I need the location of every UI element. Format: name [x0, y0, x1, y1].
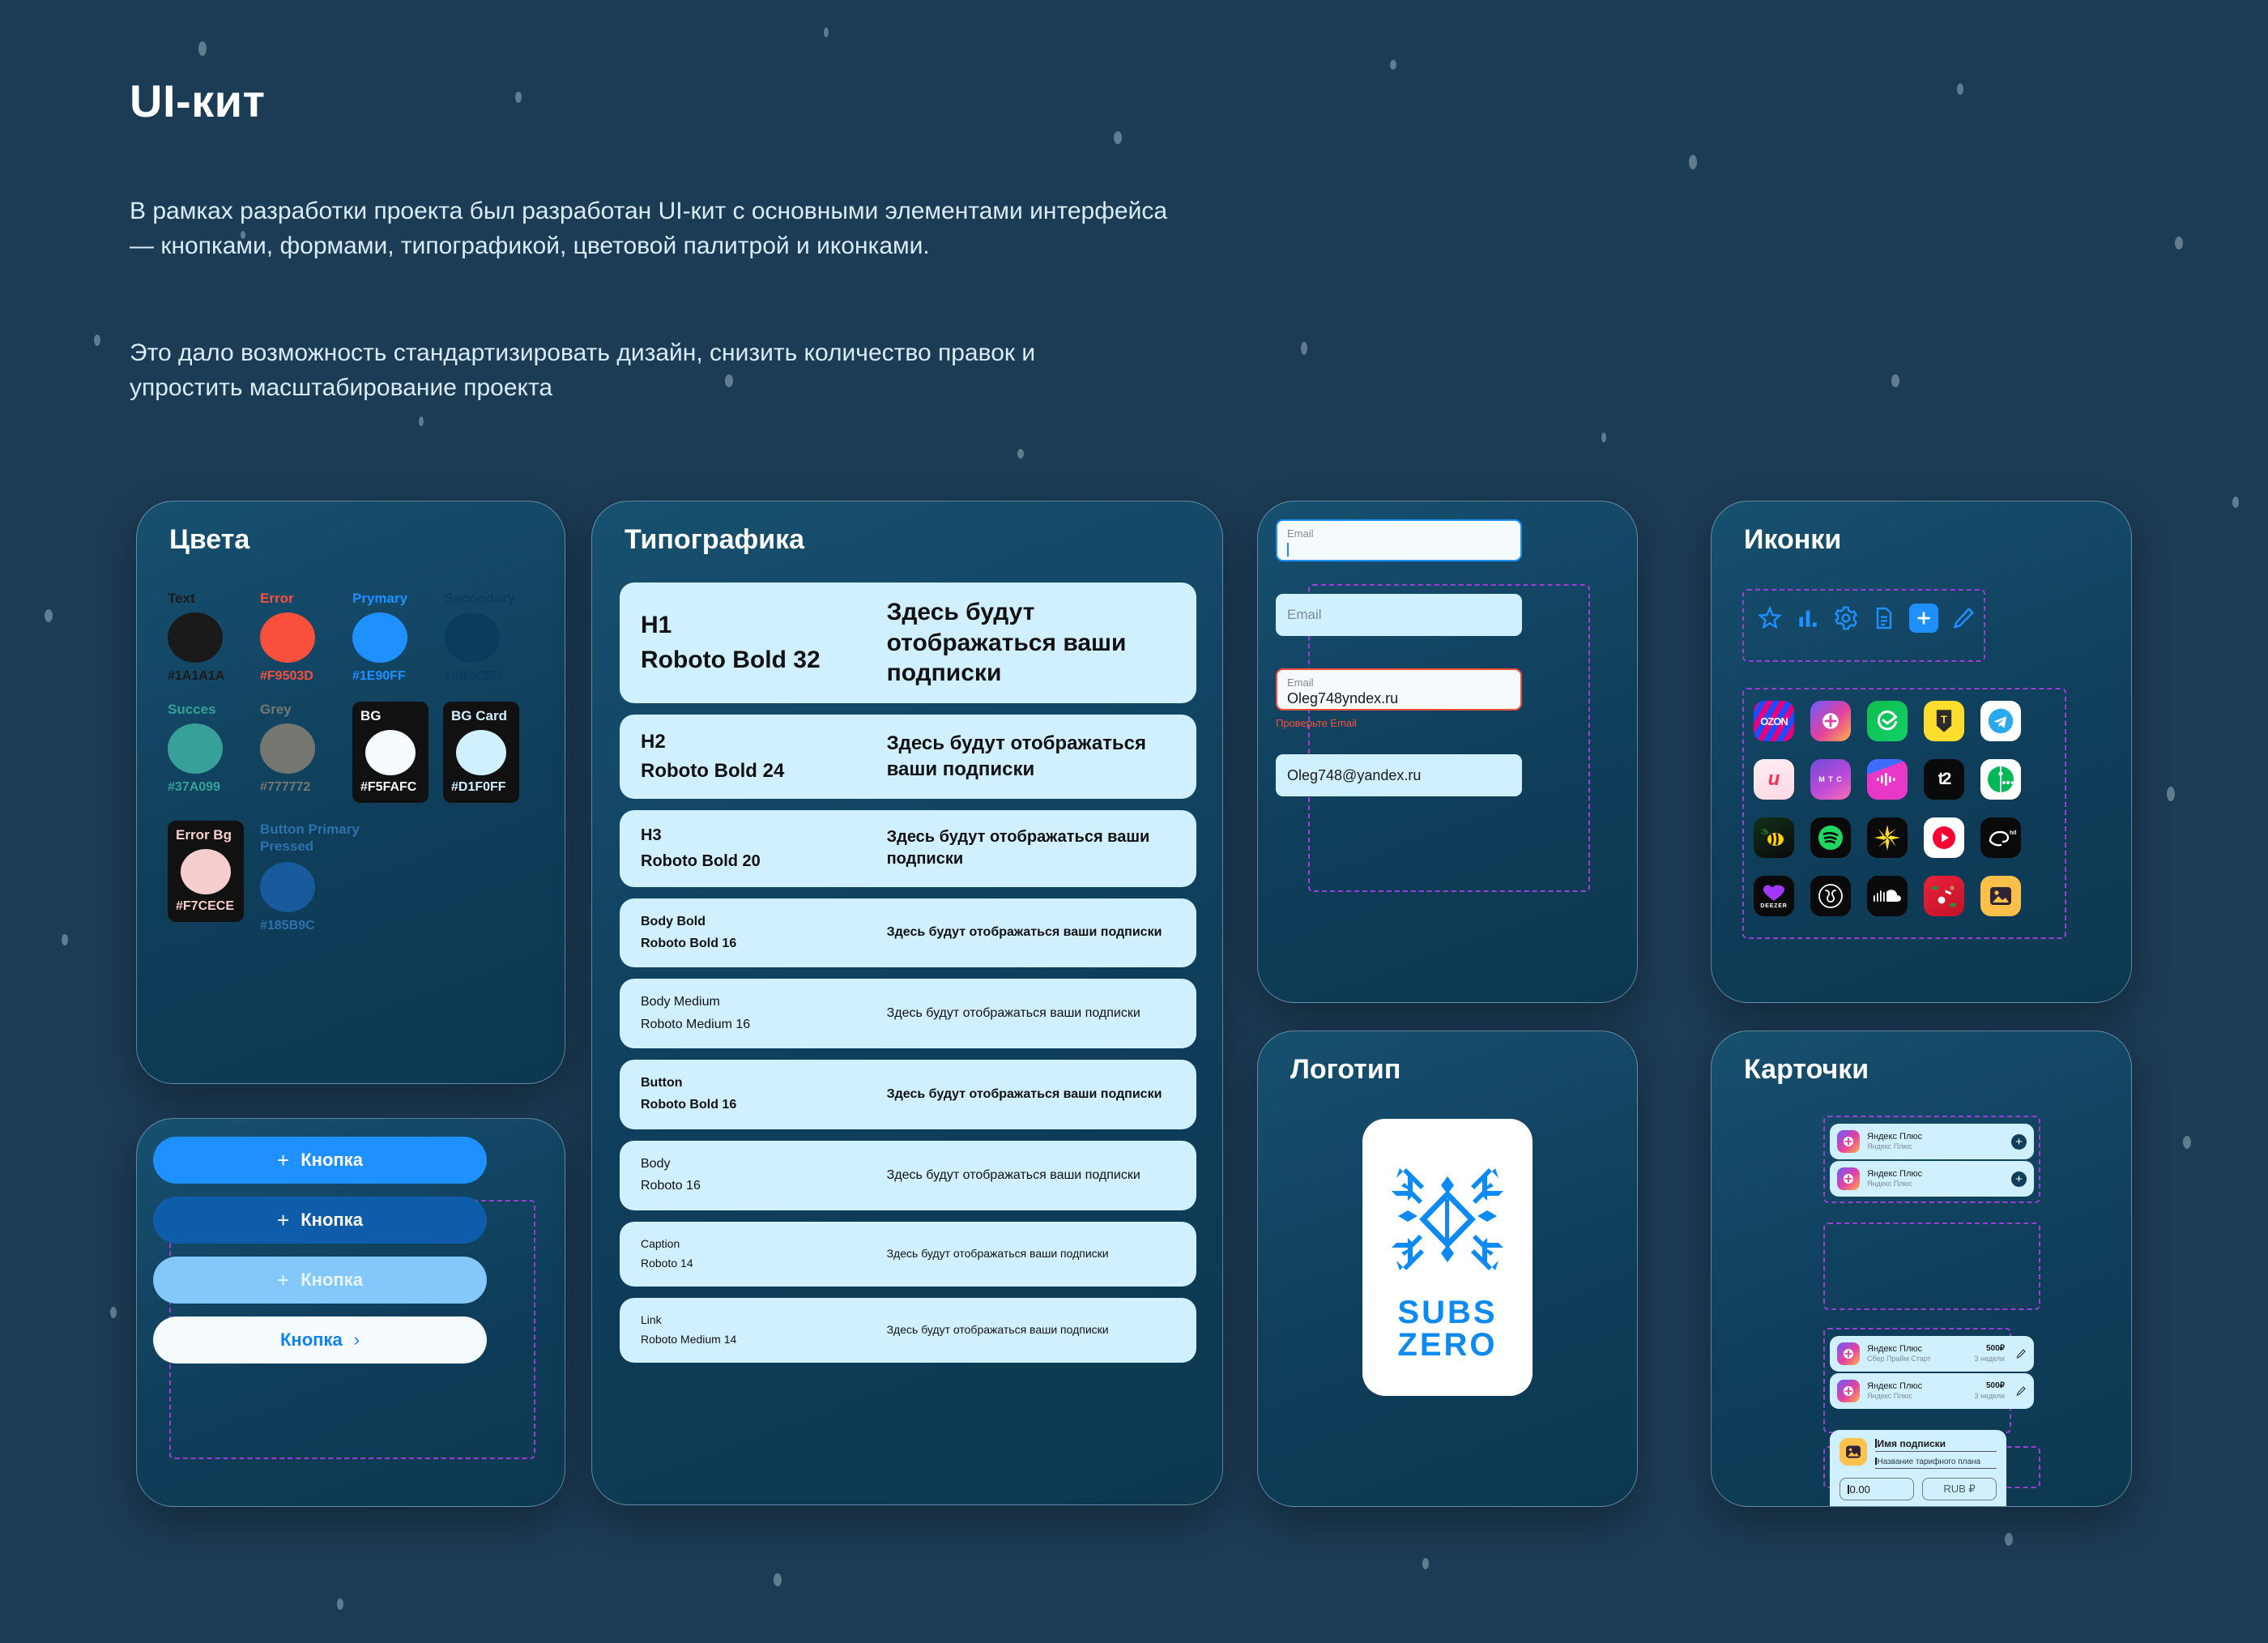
color-swatch-dot — [365, 730, 416, 775]
logo-wordmark-line1: SUBS — [1397, 1295, 1497, 1330]
typography-style-font: Roboto Medium 14 — [641, 1332, 887, 1348]
color-swatch-label: Button Primary Pressed — [260, 821, 382, 856]
soundcloud-glyph — [1872, 887, 1903, 905]
vk-music-app-icon[interactable] — [1924, 876, 1964, 916]
currency-select[interactable]: RUB ₽ — [1922, 1478, 1997, 1500]
color-swatch-label: Error — [260, 591, 338, 607]
color-swatch-hex: #D1F0FF — [451, 780, 511, 795]
color-swatch: Error #F9503D — [260, 591, 338, 684]
color-swatch-dot — [260, 723, 315, 774]
typography-style-font: Roboto 16 — [641, 1177, 887, 1195]
logo-tile: SUBS ZERO — [1362, 1119, 1533, 1396]
typography-style-font: Roboto Bold 16 — [641, 1096, 887, 1114]
app-icon-glyph: и — [1768, 768, 1780, 791]
typography-style-name: Button — [641, 1074, 887, 1092]
subscription-editor-card: Имя подписки Название тарифного плана 0.… — [1830, 1430, 2006, 1507]
svg-text:T: T — [1941, 714, 1947, 725]
deezer-heart-glyph — [1762, 884, 1786, 902]
tbank-app-icon[interactable]: T — [1924, 701, 1964, 741]
color-swatch-dot — [168, 612, 223, 663]
plus-circle-glyph — [1820, 711, 1841, 732]
color-swatch: BG #F5FAFC — [352, 702, 428, 803]
field-value: Oleg748@yandex.ru — [1287, 766, 1421, 785]
card-subtitle: Яндекс Плюс — [1867, 1180, 2004, 1189]
buttons-section: Кнопки + Кнопка + Кнопка + Кнопка Кнопка… — [136, 1118, 565, 1507]
typography-sample: Здесь будут отображаться ваши подписки — [887, 1246, 1175, 1262]
color-swatch-hex: #37A099 — [168, 780, 245, 795]
primary-button-default[interactable]: + Кнопка — [153, 1137, 487, 1184]
typography-sample: Здесь будут отображаться ваши подписки — [887, 924, 1175, 941]
star-icon[interactable] — [1757, 605, 1783, 631]
color-swatch-dot — [260, 612, 315, 663]
typography-style-name: Body Medium — [641, 993, 887, 1011]
color-swatch-dot — [456, 730, 506, 775]
color-swatch: Secondary #0B3C5D — [445, 591, 522, 684]
card-title: Яндекс Плюс — [1867, 1132, 2004, 1142]
card-amount: 500₽ — [1974, 1344, 2005, 1354]
plus-icon: + — [277, 1150, 289, 1171]
typography-style-name: Body — [641, 1155, 887, 1173]
logo-section: Логотип — [1257, 1031, 1638, 1507]
card-title: Яндекс Плюс — [1867, 1344, 1967, 1355]
zvooq-hifi-app-icon[interactable]: hifi — [1980, 817, 2021, 858]
card-title: Яндекс Плюс — [1867, 1169, 2004, 1180]
nuum-app-icon[interactable]: и — [1754, 759, 1794, 800]
color-swatch-dot — [181, 849, 231, 894]
sber-glyph — [1875, 709, 1899, 733]
ghost-button[interactable]: Кнопка › — [153, 1317, 487, 1363]
typography-sample: Здесь будут отображаться ваши подписки — [887, 731, 1175, 781]
primary-button-disabled[interactable]: + Кнопка — [153, 1257, 487, 1304]
yandex-plus-app-icon — [1837, 1380, 1860, 1402]
typography-style-name: Caption — [641, 1236, 887, 1253]
typography-list: H1 Roboto Bold 32 Здесь будут отображать… — [620, 583, 1196, 1374]
typography-style-name: Link — [641, 1312, 887, 1329]
typography-row: Button Roboto Bold 16 Здесь будут отобра… — [620, 1060, 1196, 1129]
color-swatch-hex: #777772 — [260, 780, 338, 795]
field-label: Email — [1287, 528, 1511, 540]
plus-icon[interactable]: + — [2011, 1134, 2027, 1150]
inputs-section: Поля ввода Email Email Email Oleg748ynde… — [1257, 501, 1638, 1003]
typography-style-name: Body Bold — [641, 913, 887, 931]
typography-style-font: Roboto Medium 16 — [641, 1016, 887, 1034]
typography-style-name: H1 — [641, 610, 887, 641]
card-term: 3 недели — [1974, 1392, 2005, 1401]
waveform-glyph — [1875, 772, 1899, 787]
yandex-plus-app-icon — [1837, 1167, 1860, 1190]
icons-section: Иконки — [1711, 501, 2132, 1003]
color-swatch-hex: #0B3C5D — [445, 669, 522, 684]
logo-section-title: Логотип — [1290, 1054, 1400, 1086]
card-subtitle: Сбер Прайм Старт — [1867, 1355, 1967, 1363]
typography-section: Типографика H1 Roboto Bold 32 Здесь буду… — [591, 501, 1223, 1505]
typography-row: Body Roboto 16 Здесь будут отображаться … — [620, 1141, 1196, 1210]
vk-music-glyph — [1932, 884, 1956, 908]
starburst-glyph — [1874, 824, 1901, 851]
logo-wordmark-line2: ZERO — [1397, 1327, 1497, 1363]
typography-sample: Здесь будут отображаться ваши подписки — [887, 1086, 1175, 1103]
typography-row: Body Medium Roboto Medium 16 Здесь будут… — [620, 979, 1196, 1048]
email-field-empty[interactable]: Email — [1276, 594, 1522, 636]
zvuk-app-icon[interactable] — [1867, 759, 1908, 800]
beeline-app-icon[interactable] — [1754, 817, 1794, 858]
app-icon-label: DEEZER — [1760, 903, 1787, 909]
primary-button-pressed[interactable]: + Кнопка — [153, 1197, 487, 1244]
typography-row: H2 Roboto Bold 24 Здесь будут отображать… — [620, 715, 1196, 799]
subscription-name-input[interactable]: Имя подписки — [1875, 1438, 1997, 1452]
youtube-music-glyph — [1929, 823, 1959, 852]
icons-section-title: Иконки — [1744, 524, 1841, 556]
field-value: Oleg748yndex.ru — [1287, 689, 1511, 708]
button-label: Кнопка — [280, 1329, 343, 1351]
card-subtitle: Яндекс Плюс — [1867, 1142, 2004, 1151]
yandex-plus-app-icon — [1837, 1130, 1860, 1153]
text-caret — [1875, 1457, 1877, 1465]
app-icon-grid: OZON T — [1754, 701, 2021, 916]
image-glyph — [1988, 883, 2014, 909]
field-label: Email — [1287, 677, 1511, 689]
bee-glyph — [1760, 827, 1788, 848]
color-swatch: Text #1A1A1A — [168, 591, 245, 684]
yandex-music-app-icon[interactable] — [1867, 817, 1908, 858]
color-swatch: Error Bg #F7CECE — [168, 821, 244, 922]
card-amount: 500₽ — [1974, 1381, 2005, 1391]
plus-icon: + — [277, 1270, 289, 1291]
color-swatch-grid: Text #1A1A1A Error #F9503D Prymary #1E90… — [168, 591, 532, 933]
color-swatch-label: Grey — [260, 702, 338, 718]
color-swatch-dot — [168, 723, 223, 774]
catalog-card-row[interactable]: Яндекс Плюс Яндекс Плюс + — [1830, 1124, 2034, 1159]
bar-chart-icon[interactable] — [1795, 605, 1821, 631]
typography-style-name: H3 — [641, 825, 887, 847]
colors-section-title: Цвета — [169, 524, 249, 556]
color-swatch-hex: #F7CECE — [176, 899, 236, 914]
typography-row: H3 Roboto Bold 20 Здесь будут отображать… — [620, 810, 1196, 887]
megafon-app-icon[interactable] — [1980, 759, 2021, 800]
cards-section: Карточки Яндекс Плюс Яндекс Плюс + Яндек… — [1711, 1031, 2132, 1507]
intro-paragraph-2: Это дало возможность стандартизировать д… — [130, 336, 1142, 405]
tbank-shield-glyph: T — [1933, 708, 1955, 734]
spotify-app-icon[interactable] — [1810, 817, 1851, 858]
image-placeholder-icon[interactable] — [1840, 1438, 1867, 1466]
t2-app-icon[interactable]: t2 — [1924, 759, 1964, 800]
colors-section: Цвета Text #1A1A1A Error #F9503D Prymary… — [136, 501, 565, 1084]
typography-sample: Здесь будут отображаться ваши подписки — [887, 597, 1175, 689]
ui-icon-row — [1757, 604, 1976, 633]
subscription-rows-guide-box — [1823, 1223, 2040, 1310]
button-label: Кнопка — [301, 1150, 363, 1171]
cards-section-title: Карточки — [1744, 1054, 1869, 1086]
plan-name-input[interactable]: Название тарифного плана — [1875, 1457, 1997, 1469]
app-icon-label: t2 — [1938, 770, 1950, 789]
card-title: Яндекс Плюс — [1867, 1381, 1967, 1392]
field-value — [1287, 540, 1511, 559]
megafon-glyph — [1985, 763, 2017, 796]
document-icon[interactable] — [1871, 605, 1897, 631]
text-caret — [1287, 543, 1289, 557]
color-swatch: Grey #777772 — [260, 702, 338, 795]
typography-style-name: H2 — [641, 729, 887, 754]
typography-style-font: Roboto Bold 20 — [641, 851, 887, 873]
telegram-app-icon[interactable] — [1980, 701, 2021, 741]
field-placeholder: Email — [1287, 608, 1322, 623]
color-swatch-label: BG Card — [451, 708, 511, 724]
subscription-card-row[interactable]: Яндекс Плюс Яндекс Плюс 500₽ 3 недели — [1830, 1373, 2034, 1409]
typography-sample: Здесь будут отображаться ваши подписки — [887, 1322, 1175, 1338]
color-swatch: Prymary #1E90FF — [352, 591, 430, 684]
page-title: UI-кит — [130, 75, 266, 127]
chevron-right-icon: › — [354, 1331, 360, 1349]
color-swatch-label: Text — [168, 591, 245, 607]
intro-paragraph-1: В рамках разработки проекта был разработ… — [130, 194, 1183, 263]
typography-style-font: Roboto Bold 24 — [641, 758, 887, 783]
soundcloud-app-icon[interactable] — [1867, 876, 1908, 916]
boom-glyph — [1815, 881, 1846, 911]
color-swatch-hex: #F9503D — [260, 669, 338, 684]
plus-icon[interactable]: + — [2011, 1171, 2027, 1187]
color-swatch-hex: #185B9C — [260, 919, 382, 933]
typography-sample: Здесь будут отображаться ваши подписки — [887, 1167, 1175, 1184]
card-subtitle: Яндекс Плюс — [1867, 1392, 1967, 1401]
text-caret — [1848, 1485, 1849, 1494]
typography-row: Body Bold Roboto Bold 16 Здесь будут ото… — [620, 898, 1196, 968]
zvooq-glyph: hifi — [1985, 826, 2016, 850]
mts-app-icon[interactable]: М Т С — [1810, 759, 1851, 800]
color-swatch-hex: #F5FAFC — [360, 780, 420, 795]
app-icon-label: OZON — [1760, 715, 1788, 728]
gallery-app-icon[interactable] — [1980, 876, 2021, 916]
spotify-glyph — [1814, 821, 1847, 854]
card-term: 3 недели — [1974, 1355, 2005, 1363]
color-swatch-label: Secondary — [445, 591, 522, 607]
color-swatch-hex: #1E90FF — [352, 669, 430, 684]
typography-row: H1 Roboto Bold 32 Здесь будут отображать… — [620, 583, 1196, 703]
color-swatch-label: Succes — [168, 702, 245, 718]
typography-row: Link Roboto Medium 14 Здесь будут отобра… — [620, 1298, 1196, 1363]
color-swatch-hex: #1A1A1A — [168, 669, 245, 684]
typography-section-title: Типографика — [625, 524, 804, 556]
snowflake-icon — [1383, 1154, 1511, 1285]
color-swatch-label: BG — [360, 708, 420, 724]
email-field-error[interactable]: Email Oleg748yndex.ru Проверьте Email — [1276, 668, 1522, 729]
pencil-icon[interactable] — [2015, 1348, 2027, 1359]
email-field-focused[interactable]: Email — [1276, 519, 1522, 561]
plus-icon[interactable] — [1909, 604, 1938, 633]
email-field-valid[interactable]: Oleg748@yandex.ru — [1276, 754, 1522, 796]
typography-style-font: Roboto Bold 32 — [641, 645, 887, 676]
typography-sample: Здесь будут отображаться ваши подписки — [887, 826, 1175, 870]
button-label: Кнопка — [301, 1210, 363, 1231]
catalog-card-row[interactable]: Яндекс Плюс Яндекс Плюс + — [1830, 1161, 2034, 1197]
typography-style-font: Roboto 14 — [641, 1256, 887, 1272]
color-swatch-dot — [445, 612, 500, 663]
typography-sample: Здесь будут отображаться ваши подписки — [887, 1005, 1175, 1022]
ozon-app-icon[interactable]: OZON — [1754, 701, 1794, 741]
subscription-card-row[interactable]: Яндекс Плюс Сбер Прайм Старт 500₽ 3 неде… — [1830, 1336, 2034, 1372]
color-swatch-label: Error Bg — [176, 827, 236, 843]
color-swatch: Succes #37A099 — [168, 702, 245, 795]
plus-icon: + — [277, 1210, 289, 1231]
youtube-music-app-icon[interactable] — [1924, 817, 1964, 858]
color-swatch: BG Card #D1F0FF — [443, 702, 519, 803]
boom-app-icon[interactable] — [1810, 876, 1851, 916]
color-swatch-label: Prymary — [352, 591, 430, 607]
yandex-plus-app-icon[interactable] — [1810, 701, 1851, 741]
gear-icon[interactable] — [1833, 605, 1859, 631]
button-label: Кнопка — [301, 1270, 363, 1291]
typography-row: Caption Roboto 14 Здесь будут отображать… — [620, 1222, 1196, 1287]
app-icon-label: hifi — [2010, 830, 2016, 836]
text-caret — [1875, 1439, 1877, 1448]
sber-app-icon[interactable] — [1867, 701, 1908, 741]
typography-style-font: Roboto Bold 16 — [641, 935, 887, 953]
color-swatch-dot — [260, 862, 315, 912]
yandex-plus-app-icon — [1837, 1342, 1860, 1365]
field-error-message: Проверьте Email — [1276, 717, 1522, 729]
deezer-app-icon[interactable]: DEEZER — [1754, 876, 1794, 916]
pencil-icon[interactable] — [1950, 605, 1976, 631]
app-icon-label: М Т С — [1818, 776, 1843, 783]
telegram-glyph — [1985, 706, 2016, 736]
pencil-icon[interactable] — [2015, 1385, 2027, 1397]
color-swatch-dot — [352, 612, 407, 663]
color-swatch: Button Primary Pressed #185B9C — [260, 821, 382, 933]
amount-input[interactable]: 0.00 — [1840, 1478, 1914, 1500]
